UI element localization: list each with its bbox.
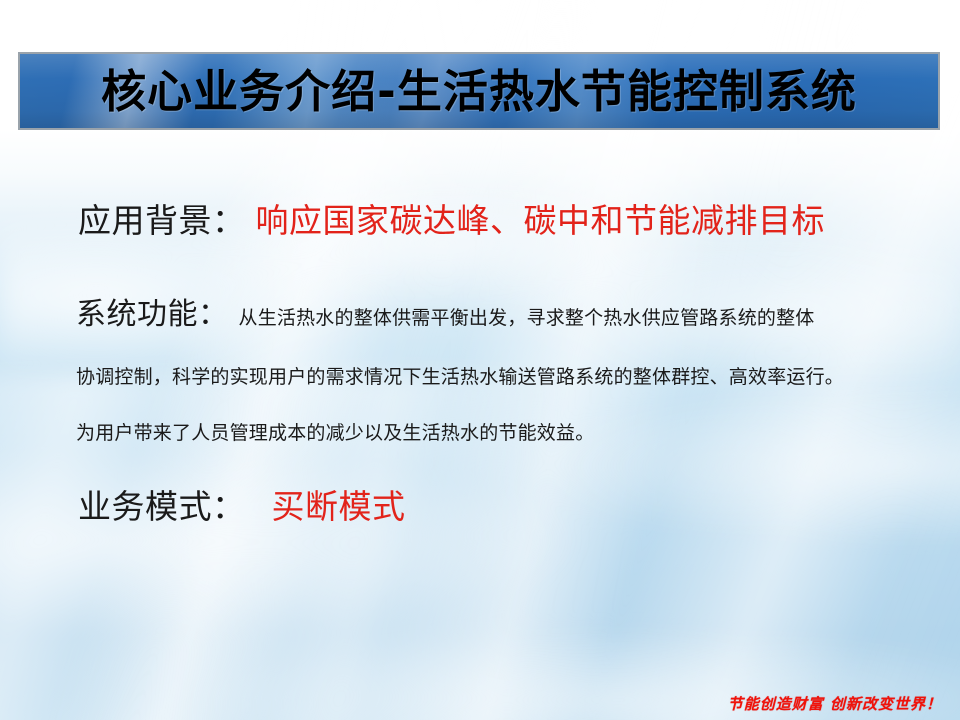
business-mode-label: 业务模式： [78, 490, 246, 526]
slide-root: 核心业务介绍-生活热水节能控制系统 应用背景：响应国家碳达峰、碳中和节能减排目标… [0, 0, 960, 720]
system-function-line-2: 协调控制，科学的实现用户的需求情况下生活热水输送管路系统的整体群控、高效率运行。 [76, 368, 844, 387]
business-mode-value: 买断模式 [272, 490, 406, 526]
system-function-line-1: 从生活热水的整体供需平衡出发，寻求整个热水供应管路系统的整体 [239, 307, 815, 329]
system-function-line-3: 为用户带来了人员管理成本的减少以及生活热水的节能效益。 [76, 424, 594, 443]
section-business-mode: 业务模式：买断模式 [78, 492, 406, 525]
system-function-label: 系统功能： [76, 298, 229, 331]
section-system-function-head: 系统功能：从生活热水的整体供需平衡出发，寻求整个热水供应管路系统的整体 [76, 300, 815, 330]
application-background-value: 响应国家碳达峰、碳中和节能减排目标 [256, 204, 826, 240]
slide-title: 核心业务介绍-生活热水节能控制系统 [101, 69, 857, 114]
section-application-background: 应用背景：响应国家碳达峰、碳中和节能减排目标 [78, 206, 825, 239]
footer-slogan: 节能创造财富 创新改变世界！ [728, 693, 942, 714]
application-background-label: 应用背景： [78, 204, 246, 240]
